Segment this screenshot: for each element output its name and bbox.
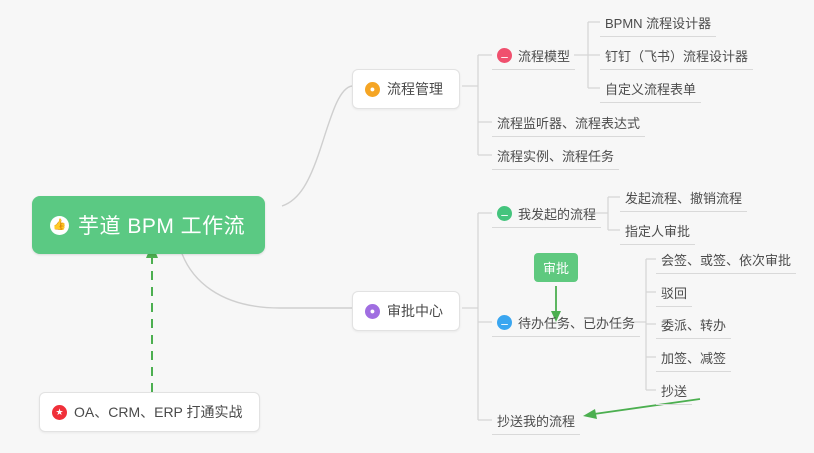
leaf-cc[interactable]: 抄送 [656, 378, 692, 405]
leaf-my-started-process[interactable]: ⚊ 我发起的流程 [492, 201, 601, 228]
callout-label: OA、CRM、ERP 打通实战 [74, 402, 243, 422]
leaf-label: 抄送 [661, 381, 687, 400]
leaf-bpmn-designer[interactable]: BPMN 流程设计器 [600, 10, 716, 37]
leaf-countersign[interactable]: 会签、或签、依次审批 [656, 247, 796, 274]
branch-label: 流程管理 [387, 79, 443, 99]
leaf-add-remove-sign[interactable]: 加签、减签 [656, 345, 731, 372]
leaf-listener-expression[interactable]: 流程监听器、流程表达式 [492, 110, 645, 137]
leaf-assign-approver[interactable]: 指定人审批 [620, 218, 695, 245]
leaf-label: 驳回 [661, 283, 687, 302]
leaf-label: 流程实例、流程任务 [497, 146, 614, 165]
leaf-dingtalk-designer[interactable]: 钉钉（飞书）流程设计器 [600, 43, 753, 70]
leaf-todo-done-task[interactable]: ⚊ 待办任务、已办任务 [492, 310, 640, 337]
callout-integration[interactable]: ★ OA、CRM、ERP 打通实战 [39, 392, 260, 432]
leaf-label: 指定人审批 [625, 221, 690, 240]
leaf-label: 流程模型 [518, 46, 570, 65]
branch-label: 审批中心 [387, 301, 443, 321]
branch-node-process-management[interactable]: ● 流程管理 [352, 69, 460, 109]
minus-circle-icon: ⚊ [497, 48, 512, 63]
leaf-label: 我发起的流程 [518, 204, 596, 223]
leaf-label: 流程监听器、流程表达式 [497, 113, 640, 132]
minus-circle-icon: ⚊ [497, 315, 512, 330]
leaf-label: 自定义流程表单 [605, 79, 696, 98]
leaf-label: 待办任务、已办任务 [518, 313, 635, 332]
leaf-instance-task[interactable]: 流程实例、流程任务 [492, 143, 619, 170]
leaf-label: 发起流程、撤销流程 [625, 188, 742, 207]
root-node[interactable]: 👍 芋道 BPM 工作流 [32, 196, 265, 254]
leaf-custom-form[interactable]: 自定义流程表单 [600, 76, 701, 103]
callout-label: 审批 [543, 261, 569, 276]
leaf-delegate-transfer[interactable]: 委派、转办 [656, 312, 731, 339]
leaf-process-model[interactable]: ⚊ 流程模型 [492, 43, 575, 70]
leaf-label: 加签、减签 [661, 348, 726, 367]
thumbs-up-icon: 👍 [50, 216, 69, 235]
minus-circle-icon: ⚊ [497, 206, 512, 221]
branch-node-approval-center[interactable]: ● 审批中心 [352, 291, 460, 331]
leaf-label: 钉钉（飞书）流程设计器 [605, 46, 748, 65]
leaf-label: 委派、转办 [661, 315, 726, 334]
leaf-label: 会签、或签、依次审批 [661, 250, 791, 269]
root-node-label: 芋道 BPM 工作流 [78, 210, 245, 240]
star-icon: ★ [52, 405, 67, 420]
callout-approval[interactable]: 审批 [534, 253, 578, 282]
location-pin-icon: ● [365, 82, 380, 97]
leaf-cc-to-me[interactable]: 抄送我的流程 [492, 408, 580, 435]
leaf-label: BPMN 流程设计器 [605, 13, 711, 32]
mail-icon: ● [365, 304, 380, 319]
leaf-reject[interactable]: 驳回 [656, 280, 692, 307]
leaf-label: 抄送我的流程 [497, 411, 575, 430]
mindmap-canvas: 👍 芋道 BPM 工作流 ● 流程管理 ⚊ 流程模型 BPMN 流程设计器 钉钉… [0, 0, 814, 453]
leaf-start-cancel-process[interactable]: 发起流程、撤销流程 [620, 185, 747, 212]
